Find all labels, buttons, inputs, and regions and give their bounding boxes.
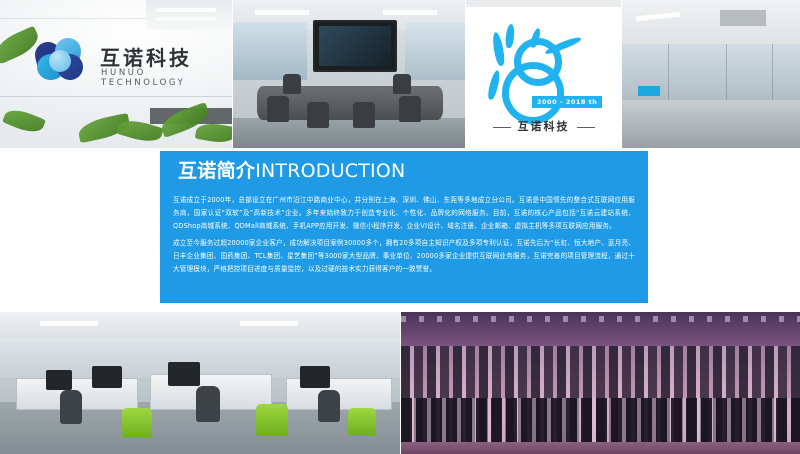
collage-gap (400, 312, 401, 454)
ceiling-lights (401, 316, 800, 322)
anniversary-company-label: 互诺科技 (518, 120, 570, 133)
introduction-paragraph: 成立至今服务过超20000家企业客户，成功解决项目案例30000多个，拥有20多… (173, 237, 635, 276)
anniversary-logo-panel: 2000 - 2018 th 互诺科技 (466, 0, 621, 148)
lobby-brand-en: HUNUO TECHNOLOGY (101, 68, 232, 88)
plant-leaf (195, 121, 232, 146)
desk-row (622, 100, 800, 148)
monitor (92, 366, 122, 388)
floor (233, 118, 465, 148)
photo-company-group (401, 312, 800, 454)
introduction-body: 互诺成立于2000年，总部设立在广州市沿江中路商业中心，并分别在上海、深圳、佛山… (173, 194, 635, 276)
chair (353, 102, 375, 128)
wall-sign (638, 86, 660, 96)
introduction-title-en: INTRODUCTION (255, 160, 405, 182)
photo-meeting-room (233, 0, 465, 148)
collage-gap (232, 0, 233, 148)
hunuo-logo-mark (35, 38, 87, 82)
photo-open-plan-office (0, 312, 400, 454)
top-band (466, 0, 621, 7)
lobby-brand-cn: 互诺科技 (100, 42, 192, 71)
collage-gap (621, 0, 622, 148)
green-office-chair (122, 408, 152, 438)
introduction-paragraph: 互诺成立于2000年，总部设立在广州市沿江中路商业中心，并分别在上海、深圳、佛山… (173, 194, 635, 233)
ceiling (0, 312, 400, 338)
anniversary-year-badge: 2000 - 2018 th (532, 96, 602, 108)
anniversary-company-name: 互诺科技 (466, 118, 621, 134)
ceiling (622, 0, 800, 44)
employee (196, 386, 220, 422)
collage-gap (465, 0, 466, 148)
wall-seam (0, 96, 232, 97)
window-right (405, 22, 465, 80)
chair (283, 74, 301, 94)
monitor (300, 366, 330, 388)
introduction-panel: 互诺简介INTRODUCTION 互诺成立于2000年，总部设立在广州市沿江中路… (160, 151, 648, 303)
company-profile-collage: 互诺科技 HUNUO TECHNOLOGY (0, 0, 800, 454)
chair (399, 96, 421, 122)
photo-office-lobby: 互诺科技 HUNUO TECHNOLOGY (0, 0, 232, 148)
collage-gap (0, 148, 800, 150)
introduction-title-cn: 互诺简介 (178, 160, 255, 182)
monitor (46, 370, 72, 390)
green-office-chair (256, 404, 288, 436)
chair (267, 96, 289, 122)
collage-gap (0, 310, 800, 312)
chair (393, 74, 411, 94)
chair (307, 102, 329, 128)
wall-display (313, 20, 397, 72)
photo-office-workstations (622, 0, 800, 148)
green-office-chair (348, 408, 376, 436)
carpet (401, 442, 800, 454)
ceiling-light (146, 0, 232, 30)
plant-leaf (2, 105, 46, 137)
employee (60, 390, 82, 424)
window-left (233, 22, 307, 80)
introduction-title: 互诺简介INTRODUCTION (178, 162, 405, 181)
employee (318, 390, 340, 422)
monitor (168, 362, 200, 386)
